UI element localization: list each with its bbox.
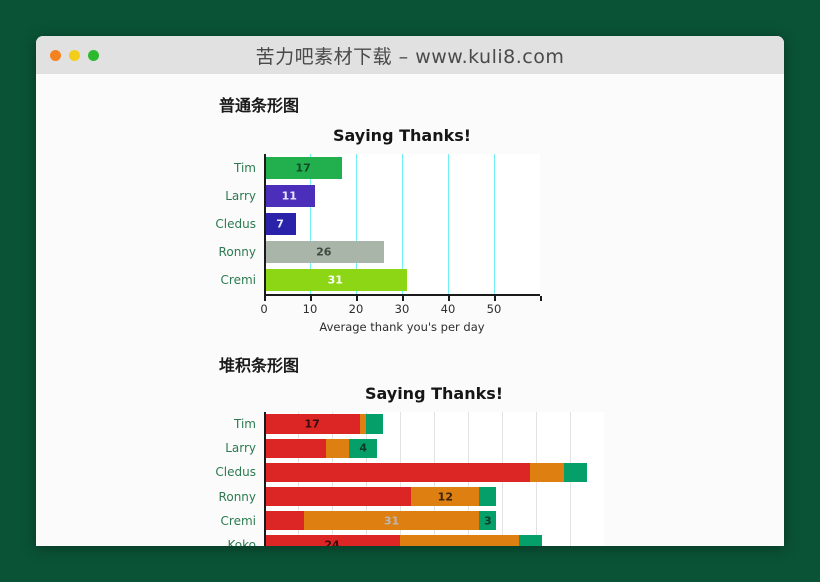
x-tick-label: 30 <box>395 302 410 316</box>
title-bar: 苦力吧素材下载 – www.kuli8.com <box>36 36 784 74</box>
section-heading-normal-bar: 普通条形图 <box>219 92 784 116</box>
axis-label-y: Tim <box>234 161 256 175</box>
bar-value-label: 11 <box>282 189 297 202</box>
bar-segment: 4 <box>349 439 377 458</box>
axis-label-y: Tim <box>234 417 256 431</box>
axis-label-y: Larry <box>225 441 256 455</box>
bar-segment <box>400 535 519 546</box>
plot-area: 1741231324 <box>264 412 604 546</box>
bar-row: 17 <box>264 414 604 433</box>
axis-label-y: Cledus <box>215 217 256 231</box>
bar-value-label: 3 <box>484 514 492 527</box>
bar-segment <box>264 487 411 506</box>
bar-segment <box>564 463 587 482</box>
bar-segment <box>264 439 326 458</box>
bar: 11 <box>264 185 315 207</box>
chart-title: Saying Thanks! <box>264 126 540 145</box>
bar-row: 11 <box>264 185 540 207</box>
minimize-button-icon[interactable] <box>69 50 80 61</box>
axis-label-y: Koko <box>228 538 256 546</box>
bar-value-label: 26 <box>316 245 331 258</box>
bar-segment <box>530 463 564 482</box>
x-tick-label: 50 <box>487 302 502 316</box>
x-tick-mark <box>356 296 358 301</box>
bar: 31 <box>264 269 407 291</box>
axis-label-y: Ronny <box>219 490 256 504</box>
bar-row: 17 <box>264 157 540 179</box>
axis-label-y: Cledus <box>215 465 256 479</box>
bar-segment <box>519 535 542 546</box>
bar-row: 12 <box>264 487 604 506</box>
bar-segment <box>264 463 530 482</box>
maximize-button-icon[interactable] <box>88 50 99 61</box>
y-axis-line <box>264 412 266 546</box>
page-content: 普通条形图 Saying Thanks!171172631TimLarryCle… <box>36 74 784 546</box>
bar-segment: 3 <box>479 511 496 530</box>
chart-title: Saying Thanks! <box>264 384 604 403</box>
bar-row: 313 <box>264 511 604 530</box>
bar-row: 26 <box>264 241 540 263</box>
bar-value-label: 17 <box>305 418 320 431</box>
x-tick-mark <box>310 296 312 301</box>
y-axis-line <box>264 154 266 294</box>
bar-segment <box>264 511 304 530</box>
window-controls[interactable] <box>50 50 99 61</box>
bar: 7 <box>264 213 296 235</box>
bar-segment: 24 <box>264 535 400 546</box>
bar-row: 31 <box>264 269 540 291</box>
bar: 26 <box>264 241 384 263</box>
bar: 17 <box>264 157 342 179</box>
chart-stacked-bar: Saying Thanks!1741231324TimLarryCledusRo… <box>36 376 784 546</box>
bar-row: 4 <box>264 439 604 458</box>
bar-segment <box>326 439 349 458</box>
bar-value-label: 12 <box>438 490 453 503</box>
close-button-icon[interactable] <box>50 50 61 61</box>
x-tick-mark <box>494 296 496 301</box>
bar-row: 24 <box>264 535 604 546</box>
axis-label-y: Cremi <box>221 514 256 528</box>
bar-value-label: 17 <box>295 161 310 174</box>
plot-area: 171172631 <box>264 154 540 294</box>
bar-value-label: 31 <box>384 514 399 527</box>
axis-label-y: Ronny <box>219 245 256 259</box>
bar-row <box>264 463 604 482</box>
browser-window: 苦力吧素材下载 – www.kuli8.com 普通条形图 Saying Tha… <box>36 36 784 546</box>
bar-segment: 31 <box>304 511 480 530</box>
x-tick-mark <box>264 296 266 301</box>
bar-value-label: 4 <box>359 442 367 455</box>
x-tick-label: 0 <box>260 302 267 316</box>
bar-segment: 17 <box>264 414 360 433</box>
x-tick-mark <box>540 296 542 301</box>
window-title: 苦力吧素材下载 – www.kuli8.com <box>36 42 784 69</box>
x-tick-mark <box>448 296 450 301</box>
chart-normal-bar: Saying Thanks!171172631TimLarryCledusRon… <box>36 116 784 340</box>
bar-value-label: 24 <box>324 538 339 546</box>
bar-segment: 12 <box>411 487 479 506</box>
axis-label-y: Larry <box>225 189 256 203</box>
section-heading-stacked-bar: 堆积条形图 <box>219 352 784 376</box>
axis-label-y: Cremi <box>221 273 256 287</box>
x-tick-label: 20 <box>349 302 364 316</box>
bar-value-label: 31 <box>328 273 343 286</box>
bar-row: 7 <box>264 213 540 235</box>
x-tick-label: 40 <box>441 302 456 316</box>
x-axis-title: Average thank you's per day <box>264 320 540 334</box>
x-tick-label: 10 <box>303 302 318 316</box>
bar-value-label: 7 <box>276 217 284 230</box>
bar-segment <box>366 414 383 433</box>
x-tick-mark <box>402 296 404 301</box>
bar-segment <box>479 487 496 506</box>
